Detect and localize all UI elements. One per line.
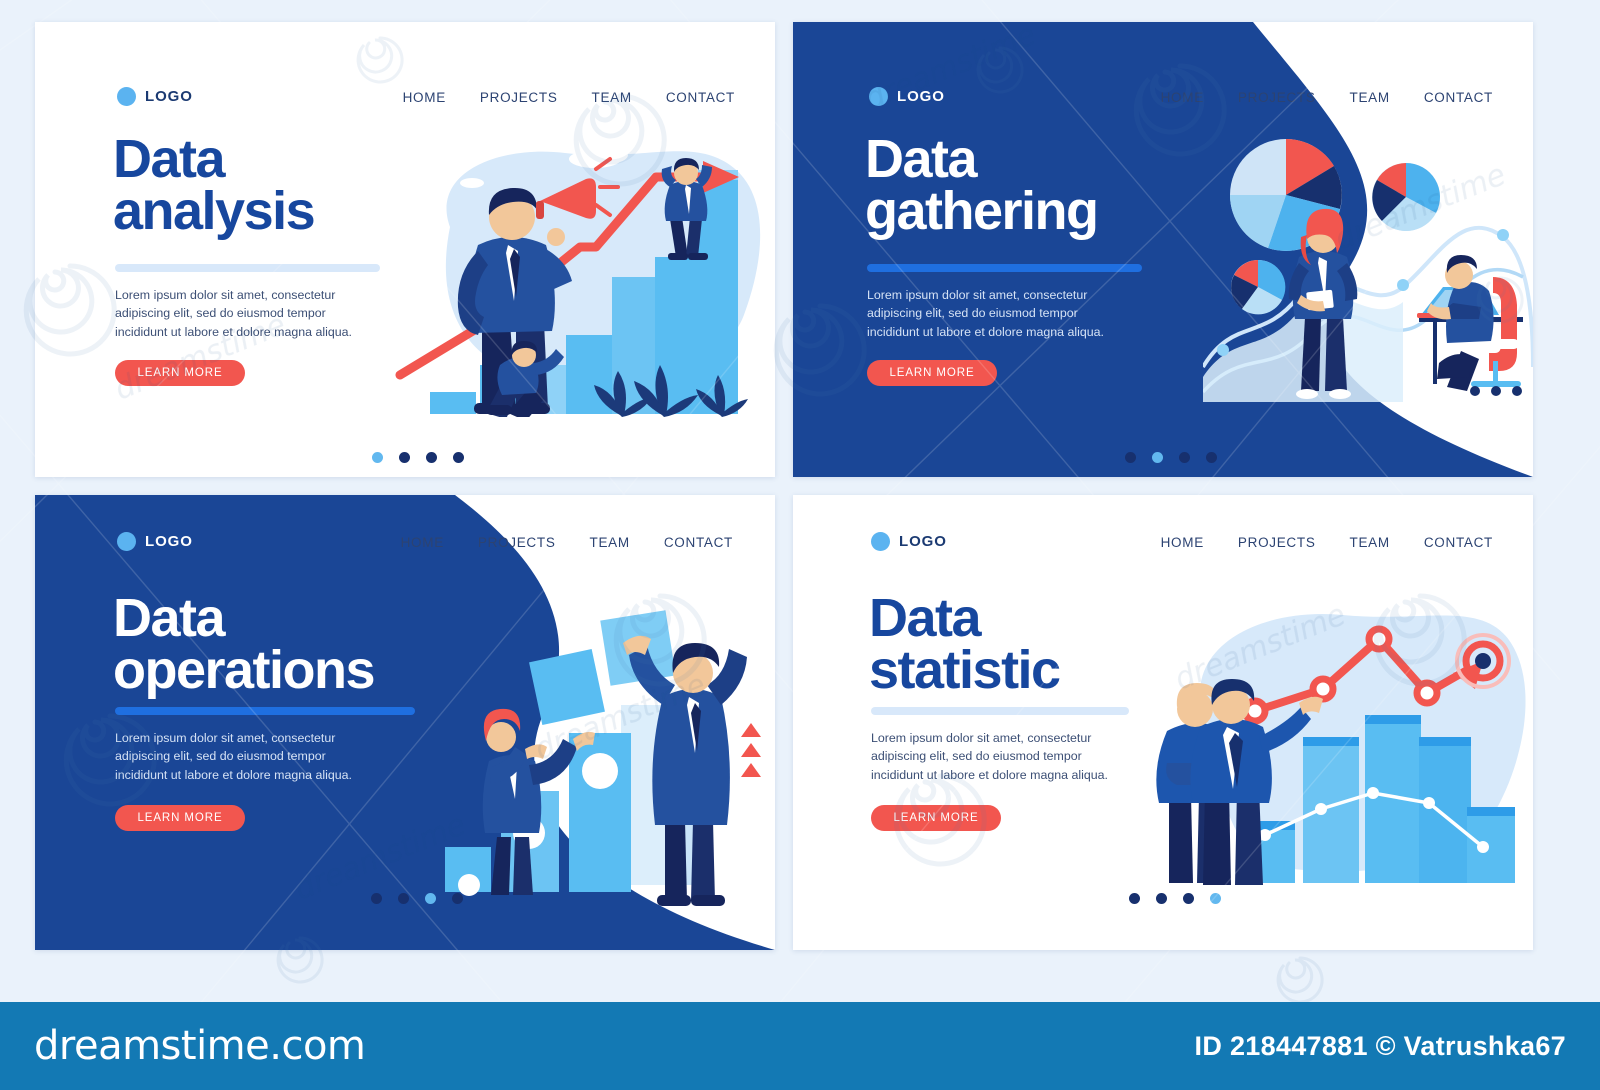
nav-item-projects[interactable]: PROJECTS [1238,535,1316,550]
landing-panel-data-operations: LOGO HOME PROJECTS TEAM CONTACT Data ope… [35,495,775,950]
body-copy: Lorem ipsum dolor sit amet, consectetur … [115,729,380,784]
carousel-dot-2[interactable] [1152,452,1163,463]
nav-item-contact[interactable]: CONTACT [666,90,735,105]
logo-dot-icon [869,87,888,106]
nav-item-home[interactable]: HOME [1161,535,1204,550]
carousel-dot-2[interactable] [398,893,409,904]
title-underline [867,264,1142,272]
nav-item-team[interactable]: TEAM [590,535,630,550]
illustration-building-bar-blocks [425,585,775,915]
landing-panel-data-analysis: LOGO HOME PROJECTS TEAM CONTACT Data ana… [35,22,775,477]
logo[interactable]: LOGO [117,87,193,106]
logo-dot-icon [117,87,136,106]
carousel-dot-1[interactable] [1125,452,1136,463]
nav-item-home[interactable]: HOME [1161,90,1204,105]
page-title-line-2: gathering [865,186,1098,238]
carousel-dot-3[interactable] [425,893,436,904]
logo-label: LOGO [899,533,947,550]
page-title-line-1: Data [869,593,1060,645]
landing-panel-data-gathering: LOGO HOME PROJECTS TEAM CONTACT Data gat… [793,22,1533,477]
learn-more-button[interactable]: LEARN MORE [867,360,997,386]
learn-more-button[interactable]: LEARN MORE [115,360,245,386]
illustration-statistic-bar-chart-target [1153,585,1533,885]
page-title: Data analysis [113,134,314,238]
carousel-dot-4[interactable] [453,452,464,463]
dreamstime-logo: dreamstime.com [34,1023,365,1069]
image-id-credit: ID 218447881 © Vatrushka67 [1195,1031,1566,1062]
page-title-line-1: Data [865,134,1098,186]
page-title-line-2: statistic [869,645,1060,697]
page-title-line-2: analysis [113,186,314,238]
title-underline [115,707,415,715]
footer-bar: dreamstime.com ID 218447881 © Vatrushka6… [0,1002,1600,1090]
nav-item-home[interactable]: HOME [403,90,446,105]
nav-item-projects[interactable]: PROJECTS [478,535,556,550]
body-copy: Lorem ipsum dolor sit amet, consectetur … [871,729,1136,784]
pie-chart-medium [1372,163,1440,231]
body-copy: Lorem ipsum dolor sit amet, consectetur … [867,286,1132,341]
logo[interactable]: LOGO [869,87,945,106]
title-underline [871,707,1129,715]
learn-more-button[interactable]: LEARN MORE [115,805,245,831]
title-underline [115,264,380,272]
nav-item-contact[interactable]: CONTACT [664,535,733,550]
landing-panel-data-statistic: LOGO HOME PROJECTS TEAM CONTACT Data sta… [793,495,1533,950]
carousel-dots [371,893,463,904]
nav-item-team[interactable]: TEAM [592,90,632,105]
carousel-dots [1129,893,1221,904]
logo-dot-icon [871,532,890,551]
nav-item-team[interactable]: TEAM [1350,535,1390,550]
logo[interactable]: LOGO [117,532,193,551]
illustration-pie-charts-team [1203,117,1533,407]
nav-item-contact[interactable]: CONTACT [1424,535,1493,550]
nav-item-contact[interactable]: CONTACT [1424,90,1493,105]
carousel-dot-3[interactable] [1179,452,1190,463]
main-nav: HOME PROJECTS TEAM CONTACT [401,535,733,550]
nav-item-projects[interactable]: PROJECTS [1238,90,1316,105]
page-title-line-1: Data [113,134,314,186]
main-nav: HOME PROJECTS TEAM CONTACT [1161,535,1493,550]
main-nav: HOME PROJECTS TEAM CONTACT [1161,90,1493,105]
nav-item-home[interactable]: HOME [401,535,444,550]
logo[interactable]: LOGO [871,532,947,551]
carousel-dot-3[interactable] [426,452,437,463]
page-title-line-2: operations [113,645,374,697]
screenshot-canvas: LOGO HOME PROJECTS TEAM CONTACT Data ana… [0,0,1600,1090]
carousel-dots [372,452,464,463]
illustration-growth-bar-chart [390,117,775,417]
nav-item-team[interactable]: TEAM [1350,90,1390,105]
carousel-dot-4[interactable] [452,893,463,904]
carousel-dot-4[interactable] [1210,893,1221,904]
target-icon [1457,635,1509,687]
carousel-dot-1[interactable] [371,893,382,904]
carousel-dots [1125,452,1217,463]
arrow-indicator-icon [741,723,761,777]
logo-label: LOGO [145,88,193,105]
learn-more-button[interactable]: LEARN MORE [871,805,1001,831]
body-copy: Lorem ipsum dolor sit amet, consectetur … [115,286,380,341]
carousel-dot-2[interactable] [399,452,410,463]
carousel-dot-1[interactable] [1129,893,1140,904]
page-title-line-1: Data [113,593,374,645]
carousel-dot-3[interactable] [1183,893,1194,904]
carousel-dot-4[interactable] [1206,452,1217,463]
carousel-dot-1[interactable] [372,452,383,463]
pie-chart-small [1231,260,1285,314]
page-title: Data gathering [865,134,1098,238]
logo-label: LOGO [897,88,945,105]
page-title: Data operations [113,593,374,697]
main-nav: HOME PROJECTS TEAM CONTACT [403,90,735,105]
logo-dot-icon [117,532,136,551]
page-title: Data statistic [869,593,1060,697]
logo-label: LOGO [145,533,193,550]
nav-item-projects[interactable]: PROJECTS [480,90,558,105]
character-man-at-desk [1417,255,1523,396]
carousel-dot-2[interactable] [1156,893,1167,904]
